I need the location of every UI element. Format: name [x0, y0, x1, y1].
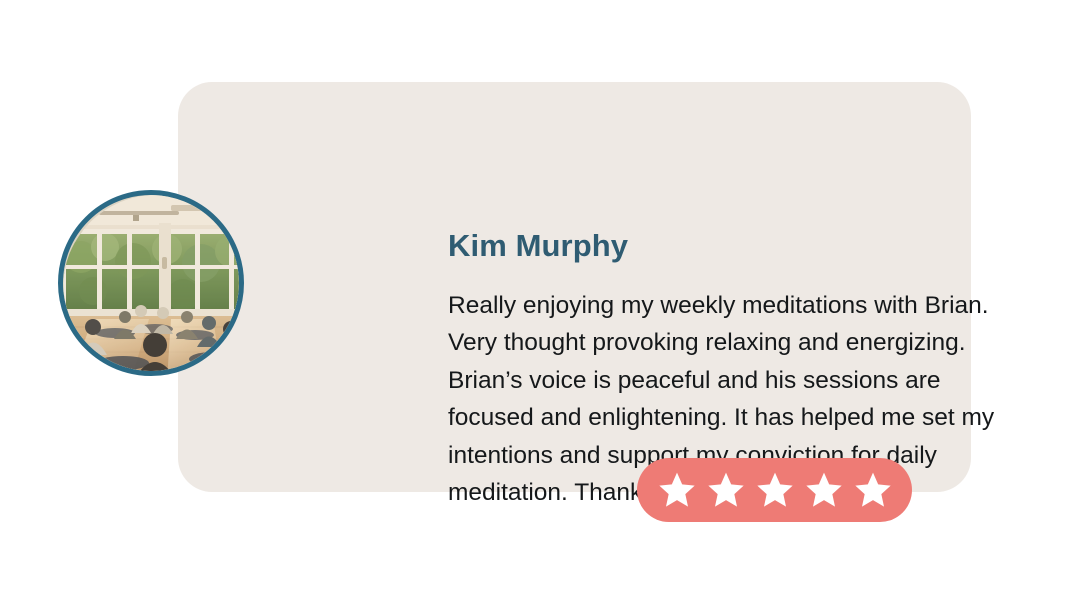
reviewer-name: Kim Murphy	[448, 228, 628, 264]
star-icon	[853, 470, 893, 510]
review-line: Brian’s voice is peaceful and his sessio…	[448, 362, 1080, 399]
avatar	[58, 190, 244, 376]
review-line: Really enjoying my weekly meditations wi…	[448, 287, 1080, 324]
testimonial-card: Kim Murphy Really enjoying my weekly med…	[178, 82, 971, 492]
star-icon	[755, 470, 795, 510]
meditation-class-photo	[63, 195, 239, 371]
rating-badge[interactable]	[637, 458, 912, 522]
avatar-photo	[63, 195, 239, 371]
star-icon	[657, 470, 697, 510]
testimonial-stage: Kim Murphy Really enjoying my weekly med…	[0, 0, 1080, 608]
review-line: focused and enlightening. It has helped …	[448, 399, 1080, 436]
review-line: Very thought provoking relaxing and ener…	[448, 324, 1080, 361]
star-icon	[706, 470, 746, 510]
star-icon	[804, 470, 844, 510]
